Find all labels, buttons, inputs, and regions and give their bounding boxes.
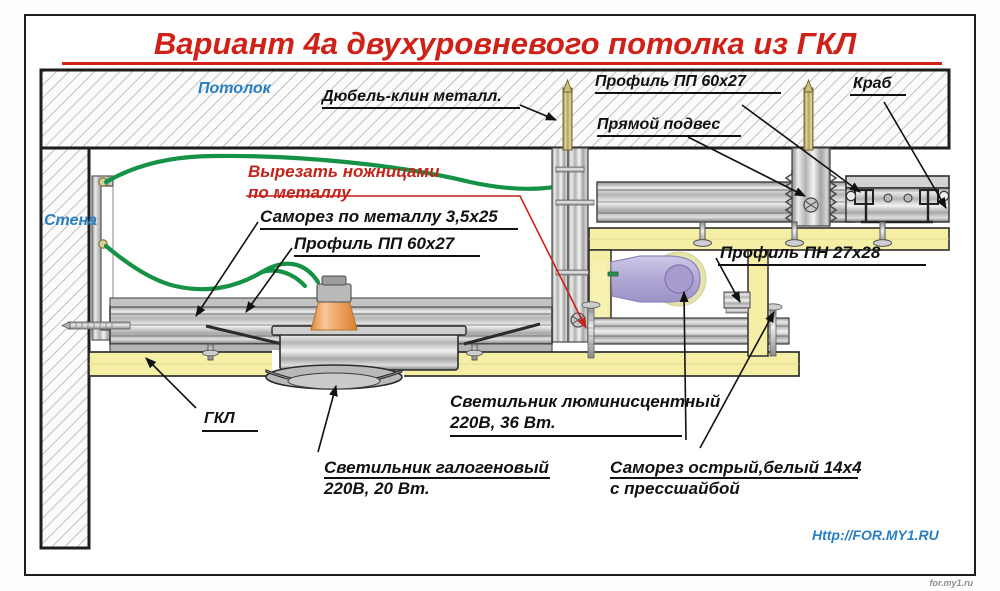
label-halogen-line2: 220В, 20 Вт.	[324, 479, 430, 498]
label-gkl-underline	[202, 430, 258, 432]
label-profile-pp-top-underline	[595, 92, 781, 94]
label-profile-pp-top: Профиль ПП 60х27	[595, 73, 746, 91]
wall-group	[41, 148, 89, 548]
label-dowel-nail-underline	[322, 107, 520, 109]
label-profile-pp-lower-underline	[294, 255, 480, 257]
label-crab-underline	[850, 94, 906, 96]
label-profile-pn: Профиль ПН 27х28	[720, 243, 880, 262]
label-sharp-screw-underline	[610, 477, 858, 479]
label-fluorescent-underline	[450, 435, 682, 437]
label-dowel-nail: Дюбель-клин металл.	[322, 88, 502, 106]
fluorescent-fixture	[608, 252, 706, 306]
label-crab: Краб	[853, 75, 891, 93]
label-halogen-underline	[324, 477, 550, 479]
label-sharp-screw-line1: Саморез острый,белый 14х4	[610, 458, 862, 477]
wall-anchor-screw	[62, 322, 130, 329]
label-metal-screw: Саморез по металлу 3,5х25	[260, 207, 498, 226]
site-url[interactable]: Http://FOR.MY1.RU	[812, 527, 939, 543]
label-direct-hanger-underline	[597, 135, 741, 137]
label-cut-shears-line2: по металлу	[248, 183, 351, 202]
label-profile-pp-lower: Профиль ПП 60х27	[294, 234, 454, 253]
label-gkl: ГКЛ	[204, 410, 235, 428]
label-profile-pn-underline	[718, 264, 926, 266]
watermark: for.my1.ru	[929, 578, 973, 588]
label-ceiling: Потолок	[198, 80, 271, 98]
label-cut-shears-line1: Вырезать ножницами	[248, 162, 439, 181]
label-halogen-line1: Светильник галогеновый	[324, 458, 549, 477]
label-metal-screw-underline	[260, 228, 518, 230]
label-direct-hanger: Прямой подвес	[597, 116, 720, 134]
label-wall: Стена	[44, 212, 97, 230]
label-fluorescent-line1: Светильник люминисцентный	[450, 392, 720, 411]
diagram-canvas: Вариант 4а двухуровневого потолка из ГКЛ	[0, 0, 1000, 591]
label-sharp-screw-line2: с прессшайбой	[610, 479, 740, 498]
crab-connector	[846, 176, 949, 222]
label-fluorescent-line2: 220В, 36 Вт.	[450, 413, 556, 432]
